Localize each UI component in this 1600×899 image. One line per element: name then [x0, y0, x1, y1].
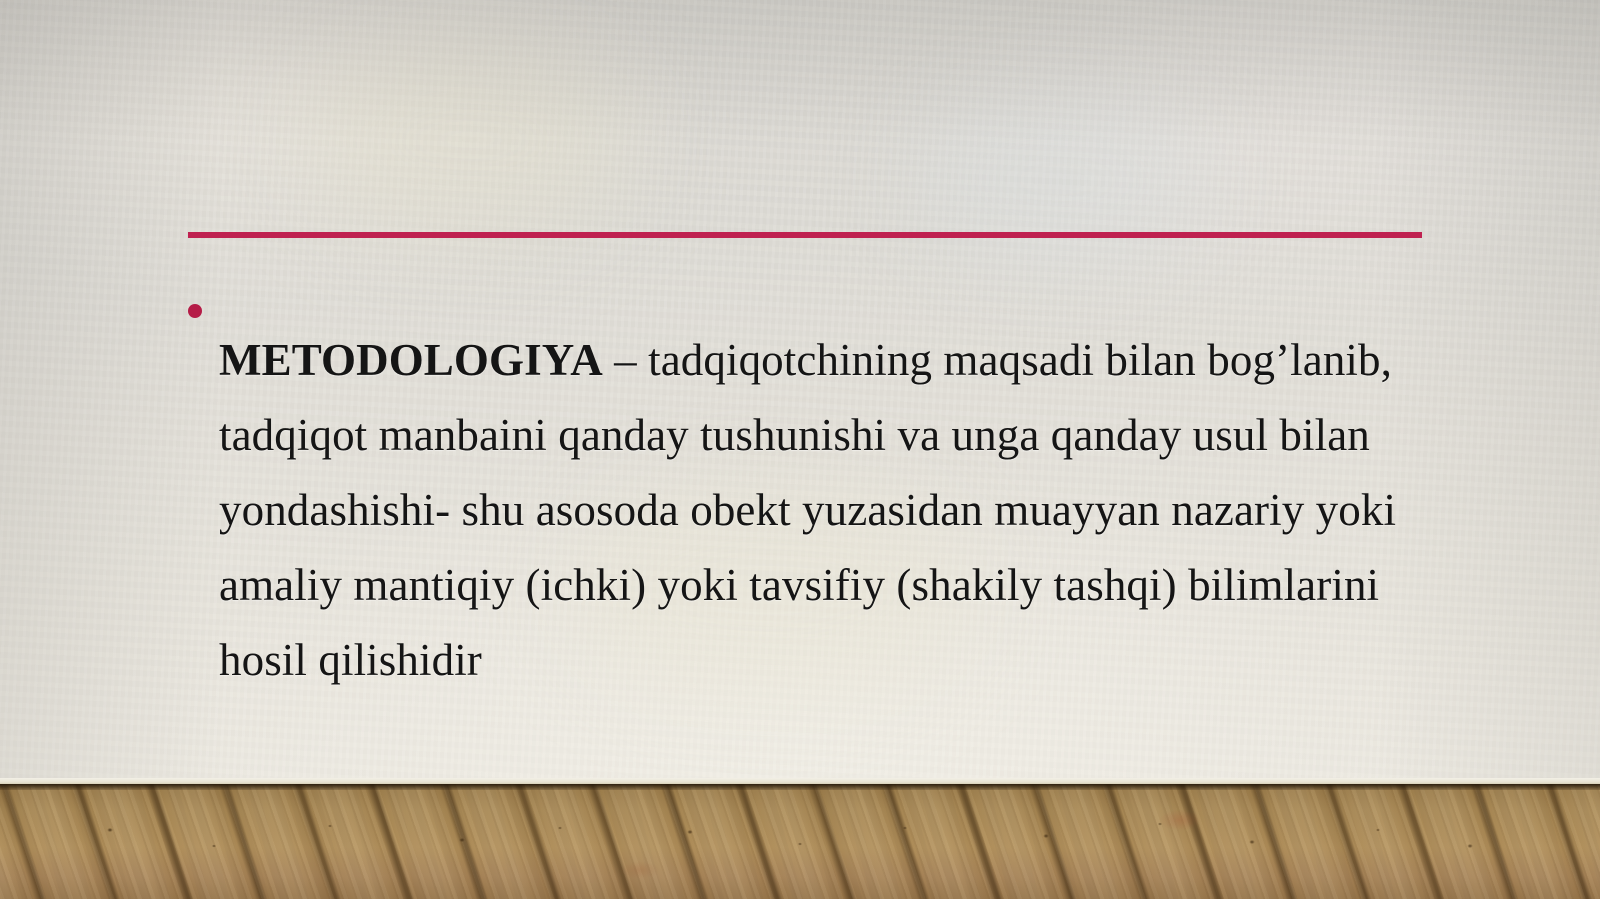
bullet-body-text: tadqiqotchining maqsadi bilan bog’lanib,…: [219, 335, 1396, 685]
presentation-slide: METODOLOGIYA – tadqiqotchining maqsadi b…: [0, 0, 1600, 899]
accent-divider-rule: [188, 232, 1422, 238]
slide-body: METODOLOGIYA – tadqiqotchining maqsadi b…: [188, 278, 1438, 743]
floor-knot-marks: [0, 784, 1600, 899]
bullet-dot-icon: [188, 304, 202, 318]
bullet-lead-term: METODOLOGIYA: [219, 335, 603, 385]
bullet-list-item: METODOLOGIYA – tadqiqotchining maqsadi b…: [188, 278, 1438, 743]
wooden-floor: [0, 784, 1600, 899]
bullet-separator: –: [603, 335, 648, 385]
bullet-paragraph: METODOLOGIYA – tadqiqotchining maqsadi b…: [219, 323, 1438, 698]
floor-wall-shadow: [0, 784, 1600, 790]
